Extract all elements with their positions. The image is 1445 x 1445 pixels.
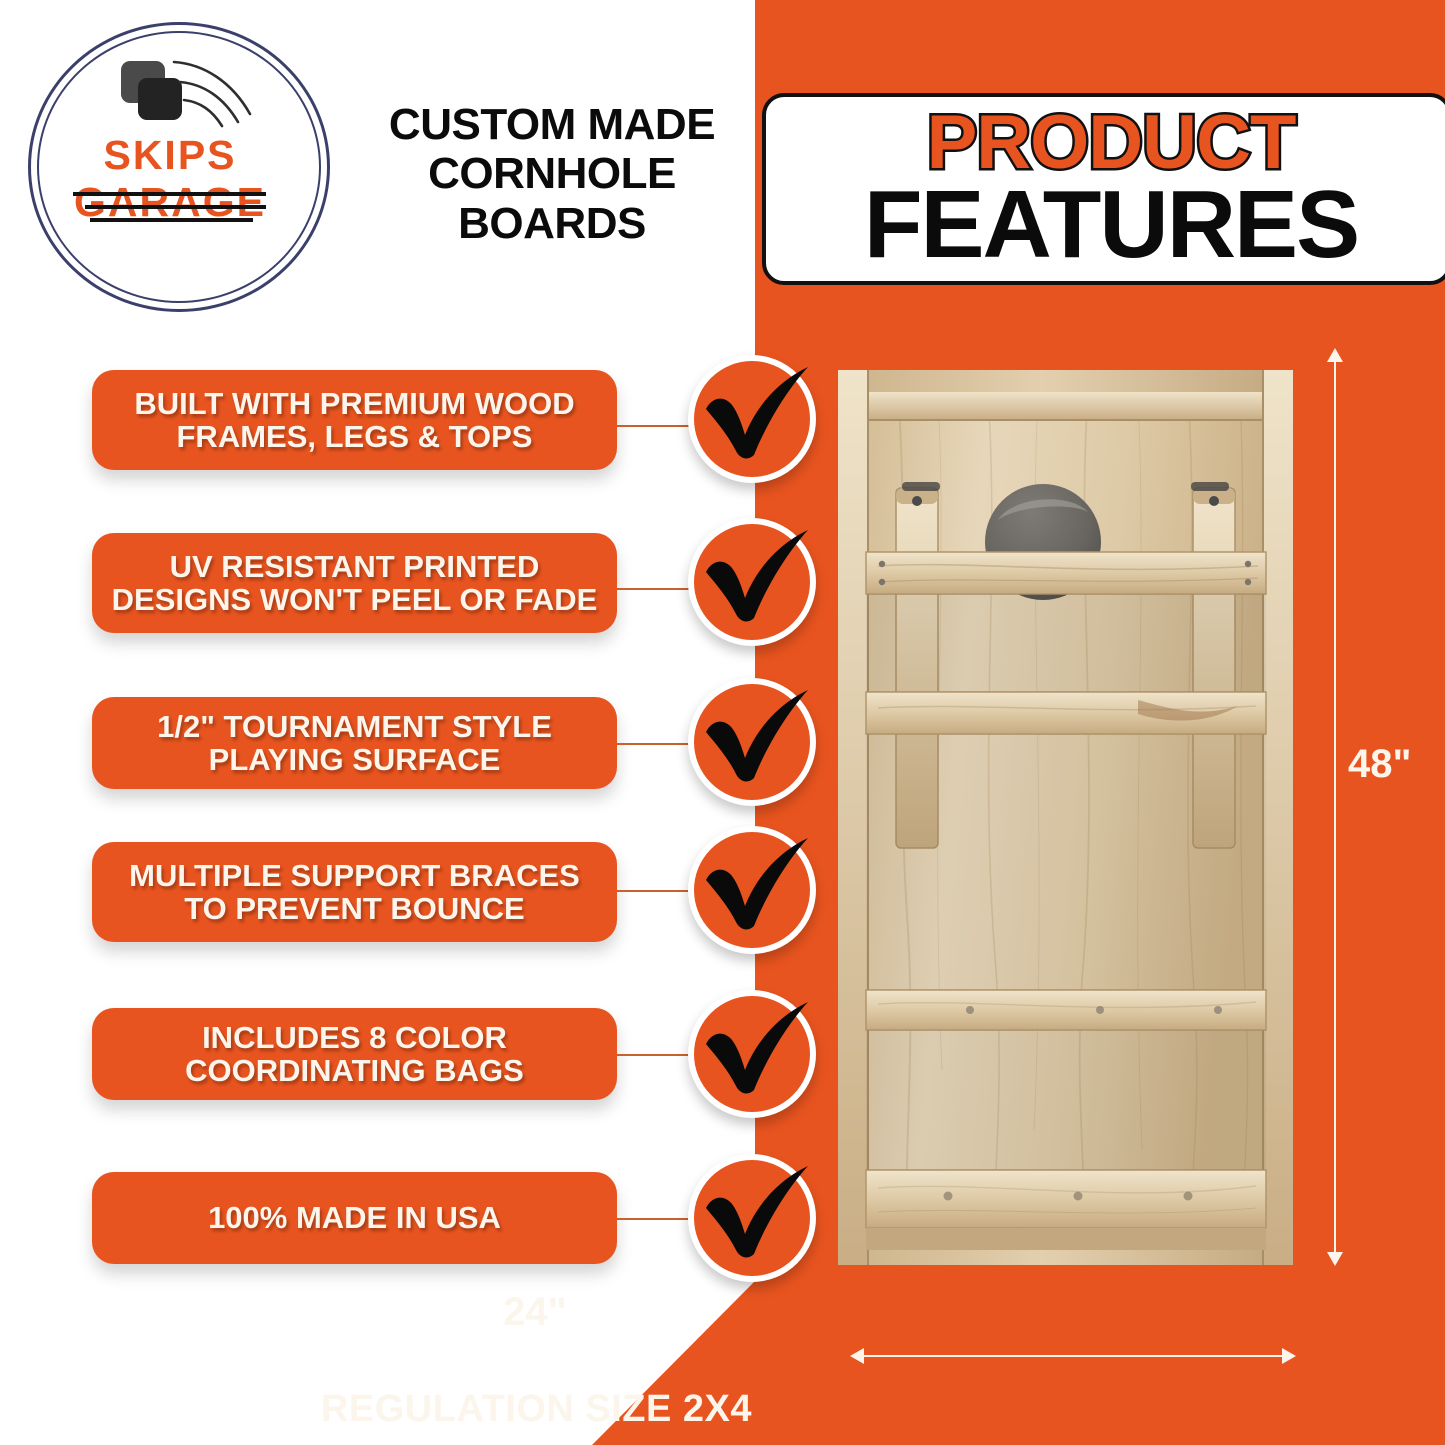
- feature-connector-line: [617, 1054, 697, 1056]
- feature-pill[interactable]: MULTIPLE SUPPORT BRACES TO PREVENT BOUNC…: [92, 842, 617, 942]
- feature-pill[interactable]: BUILT WITH PREMIUM WOOD FRAMES, LEGS & T…: [92, 370, 617, 470]
- check-icon: [690, 512, 822, 644]
- logo-bar-3: [90, 218, 253, 222]
- width-arrow-right-icon: [1282, 1348, 1296, 1364]
- check-icon: [690, 984, 822, 1116]
- product-image: [838, 370, 1293, 1265]
- check-icon: [690, 349, 822, 481]
- cornhole-board-underside-illustration: [838, 370, 1293, 1265]
- feature-pill[interactable]: 1/2" TOURNAMENT STYLE PLAYING SURFACE: [92, 697, 617, 789]
- feature-check-badge: [688, 826, 816, 954]
- logo-bar-2: [85, 205, 266, 209]
- feature-pill[interactable]: UV RESISTANT PRINTED DESIGNS WON'T PEEL …: [92, 533, 617, 633]
- check-icon: [690, 820, 822, 952]
- feature-check-badge: [688, 678, 816, 806]
- feature-connector-line: [617, 588, 697, 590]
- motion-lines-icon: [170, 56, 255, 128]
- height-arrow-top-icon: [1327, 348, 1343, 362]
- width-dimension-line: [862, 1355, 1286, 1357]
- brand-logo: SKIPS GARAGE: [20, 14, 350, 314]
- banner-line-product: PRODUCT: [766, 105, 1445, 181]
- feature-pill-label: 1/2" TOURNAMENT STYLE PLAYING SURFACE: [106, 710, 603, 776]
- feature-check-badge: [688, 518, 816, 646]
- feature-pill-label: 100% MADE IN USA: [208, 1201, 501, 1234]
- height-arrow-bottom-icon: [1327, 1252, 1343, 1266]
- feature-check-badge: [688, 990, 816, 1118]
- feature-connector-line: [617, 1218, 697, 1220]
- check-icon: [690, 672, 822, 804]
- logo-bar-1: [73, 192, 266, 196]
- feature-pill-label: MULTIPLE SUPPORT BRACES TO PREVENT BOUNC…: [106, 859, 603, 925]
- feature-check-badge: [688, 1154, 816, 1282]
- feature-connector-line: [617, 890, 697, 892]
- feature-connector-line: [617, 743, 697, 745]
- width-dimension-label: 24": [0, 1290, 1445, 1335]
- product-features-banner: PRODUCT FEATURES: [762, 93, 1445, 285]
- feature-pill[interactable]: INCLUDES 8 COLOR COORDINATING BAGS: [92, 1008, 617, 1100]
- check-icon: [690, 1148, 822, 1280]
- infographic-canvas: SKIPS GARAGE CUSTOM MADE CORNHOLE BOARDS…: [0, 0, 1445, 1445]
- regulation-size-label: REGULATION SIZE 2X4: [0, 1388, 1445, 1431]
- brand-name: SKIPS GARAGE: [20, 132, 320, 226]
- feature-check-badge: [688, 355, 816, 483]
- banner-line-features: FEATURES: [766, 177, 1445, 273]
- width-arrow-left-icon: [850, 1348, 864, 1364]
- feature-pill-label: UV RESISTANT PRINTED DESIGNS WON'T PEEL …: [106, 550, 603, 616]
- feature-pill[interactable]: 100% MADE IN USA: [92, 1172, 617, 1264]
- page-title: CUSTOM MADE CORNHOLE BOARDS: [352, 100, 752, 248]
- feature-connector-line: [617, 425, 697, 427]
- height-dimension-label: 48": [1348, 742, 1411, 787]
- feature-pill-label: INCLUDES 8 COLOR COORDINATING BAGS: [106, 1021, 603, 1087]
- height-dimension-line: [1334, 352, 1336, 1264]
- feature-pill-label: BUILT WITH PREMIUM WOOD FRAMES, LEGS & T…: [106, 387, 603, 453]
